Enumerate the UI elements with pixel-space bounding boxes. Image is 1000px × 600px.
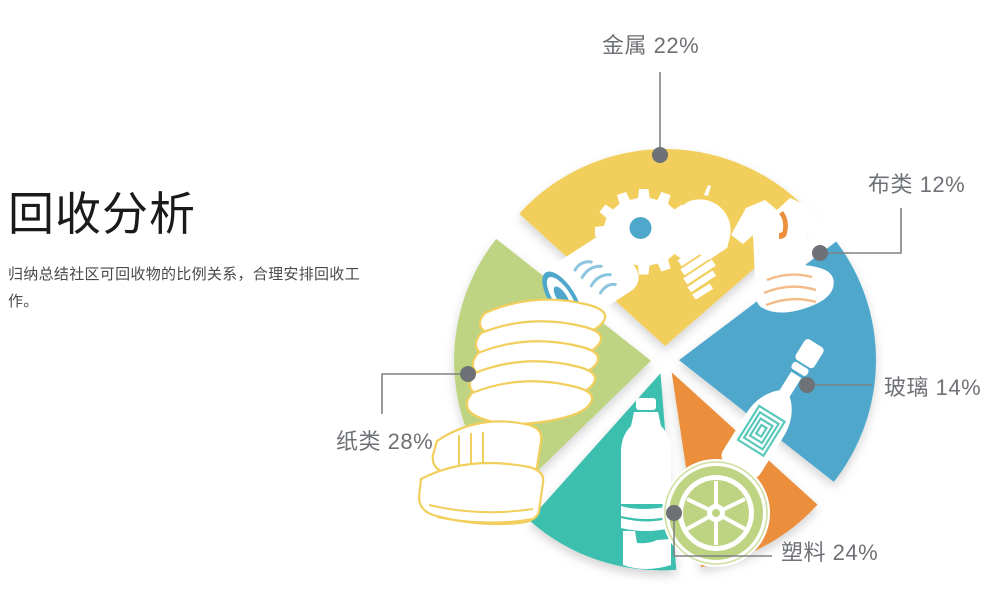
pie-chart (415, 125, 895, 575)
label-plastic-name: 塑料 (781, 540, 826, 565)
label-glass-pct: 14% (936, 375, 982, 400)
label-paper-name: 纸类 (336, 429, 381, 454)
label-cloth-pct: 12% (920, 172, 966, 197)
books-icon (419, 421, 543, 524)
label-metal-pct: 22% (654, 33, 700, 58)
slide-canvas: 回收分析 归纳总结社区可回收物的比例关系，合理安排回收工作。 (0, 0, 1000, 600)
label-metal: 金属 22% (602, 28, 699, 60)
page-subtitle: 归纳总结社区可回收物的比例关系，合理安排回收工作。 (8, 262, 383, 315)
page-title: 回收分析 (8, 190, 408, 238)
label-cloth: 布类 12% (868, 167, 965, 199)
label-paper-pct: 28% (388, 429, 434, 454)
label-cloth-name: 布类 (868, 172, 913, 197)
label-plastic: 塑料 24% (781, 535, 878, 567)
label-glass: 玻璃 14% (884, 370, 981, 402)
label-glass-name: 玻璃 (884, 375, 929, 400)
tire-icon (662, 459, 770, 567)
label-paper: 纸类 28% (336, 424, 433, 456)
label-plastic-pct: 24% (833, 540, 879, 565)
text-block: 回收分析 归纳总结社区可回收物的比例关系，合理安排回收工作。 (8, 190, 408, 315)
paper-stack-icon (467, 300, 605, 424)
label-metal-name: 金属 (602, 33, 647, 58)
